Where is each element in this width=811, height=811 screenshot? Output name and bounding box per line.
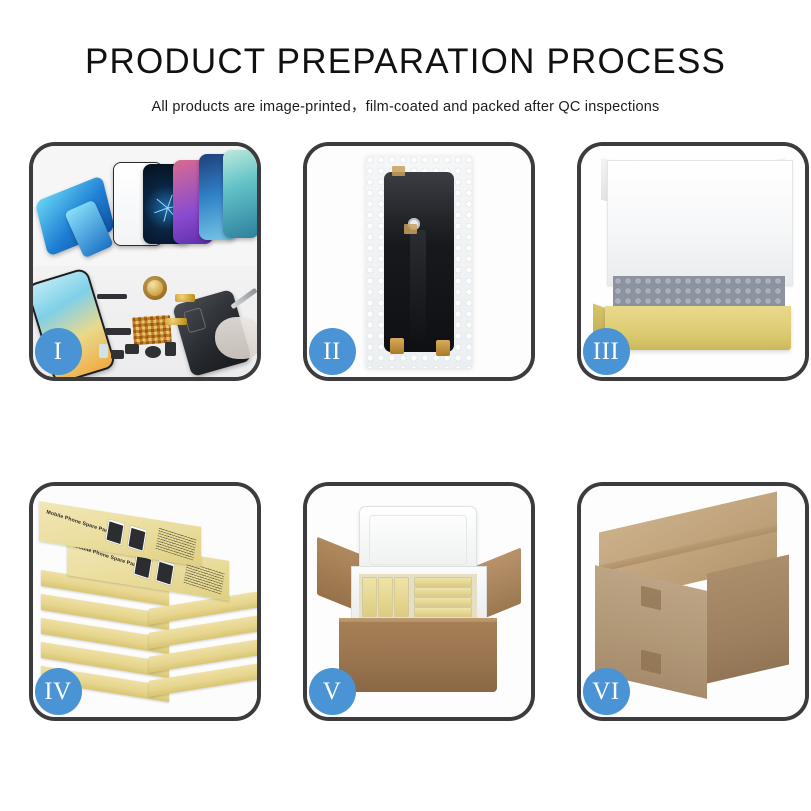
white-box-lid xyxy=(607,160,793,286)
gold-connector-left xyxy=(390,338,404,354)
page-subtitle: All products are image-printed，film-coat… xyxy=(0,95,811,116)
camera-module-part xyxy=(145,346,161,358)
tape-middle xyxy=(404,224,417,234)
process-step-panel-2[interactable]: II xyxy=(303,142,535,381)
foam-box-contents xyxy=(359,574,477,620)
speaker-part xyxy=(97,294,127,299)
box-art-screen-4 xyxy=(127,525,146,551)
page-title: PRODUCT PREPARATION PROCESS xyxy=(0,44,811,81)
sim-tray-part xyxy=(99,344,108,358)
box-spec-lines-front xyxy=(183,561,224,594)
box-spec-lines-top xyxy=(155,527,196,560)
screen-flex-ribbon xyxy=(410,230,426,340)
process-step-grid: I II xyxy=(16,142,796,721)
step-badge-5: V xyxy=(309,668,356,715)
tape-patch-lower xyxy=(641,649,661,674)
wireless-charging-coil xyxy=(143,276,167,300)
process-step-panel-5[interactable]: V xyxy=(303,482,535,721)
tape-patch-upper xyxy=(641,585,661,610)
page-header: PRODUCT PREPARATION PROCESS All products… xyxy=(0,0,811,116)
step-badge-3: III xyxy=(583,328,630,375)
teal-gradient-phone xyxy=(223,150,257,238)
hand-silhouette xyxy=(215,317,257,359)
gold-connector-right xyxy=(436,340,450,356)
step-badge-1: I xyxy=(35,328,82,375)
carton-body xyxy=(339,622,497,692)
bubble-wrap-contents xyxy=(613,276,785,310)
button-part xyxy=(125,344,139,354)
step-badge-6: VI xyxy=(583,668,630,715)
step-badge-2: II xyxy=(309,328,356,375)
bubble-wrap-bag xyxy=(366,156,472,368)
process-step-panel-3[interactable]: III xyxy=(577,142,809,381)
process-step-panel-6[interactable]: VI xyxy=(577,482,809,721)
box-art-screen-2 xyxy=(155,559,174,585)
vibrator-part xyxy=(111,350,124,359)
foam-box-lid xyxy=(359,506,477,574)
step-badge-4: IV xyxy=(35,668,82,715)
gold-flex-connector xyxy=(175,294,195,302)
battery-connector-part xyxy=(165,342,176,356)
process-step-panel-1[interactable]: I xyxy=(29,142,261,381)
gold-cable-part xyxy=(165,318,187,325)
box-art-screen-3 xyxy=(105,519,124,545)
flex-cable-part xyxy=(105,328,131,335)
carton-side-face xyxy=(707,554,789,683)
box-label-top: Mobile Phone Spare Parts xyxy=(45,509,112,536)
yellow-tray-base xyxy=(605,306,791,350)
process-step-panel-4[interactable]: Mobile Phone Spare Parts Mobile Phone Sp… xyxy=(29,482,261,721)
tape-top xyxy=(392,166,405,176)
